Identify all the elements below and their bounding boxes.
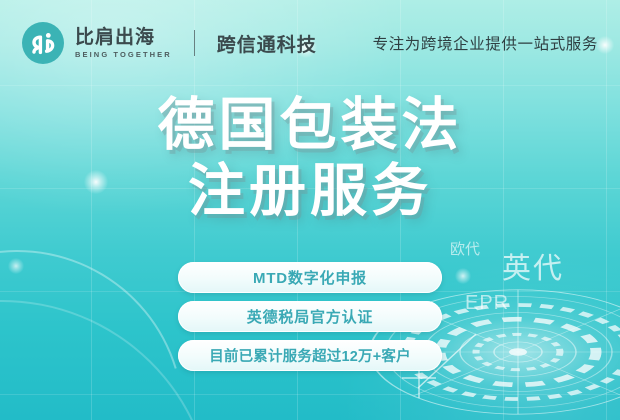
feature-pill-customer-count[interactable]: 目前已累计服务超过12万+客户 (178, 340, 442, 371)
feature-pill-label: MTD数字化申报 (253, 267, 367, 288)
feature-pill-certification[interactable]: 英德税局官方认证 (178, 301, 442, 332)
headline-block: 德国包装法 注册服务 (0, 92, 620, 224)
feature-pill-mtd[interactable]: MTD数字化申报 (178, 262, 442, 293)
headline-line-2: 注册服务 (0, 158, 620, 224)
feature-pill-list: MTD数字化申报 英德税局官方认证 目前已累计服务超过12万+客户 (0, 262, 620, 371)
feature-pill-label: 目前已累计服务超过12万+客户 (209, 345, 411, 366)
brand-company-name: 跨信通科技 (217, 30, 317, 57)
brand-name-en: BEING TOGETHER (75, 51, 172, 59)
brand-text-block: 比肩出海 BEING TOGETHER (75, 28, 172, 59)
brand-divider (194, 30, 195, 56)
promotional-banner: 比肩出海 BEING TOGETHER 跨信通科技 专注为跨境企业提供一站式服务… (0, 0, 620, 420)
brand-name-cn: 比肩出海 (75, 28, 172, 47)
brand-lockup: 比肩出海 BEING TOGETHER 跨信通科技 (22, 22, 317, 64)
feature-pill-label: 英德税局官方认证 (247, 306, 373, 327)
header-tagline: 专注为跨境企业提供一站式服务 (373, 32, 598, 54)
bijian-chuhai-circle-logo-icon (22, 22, 64, 64)
watermark-oudai: 欧代 (450, 238, 480, 259)
banner-header: 比肩出海 BEING TOGETHER 跨信通科技 专注为跨境企业提供一站式服务 (0, 0, 620, 86)
headline-line-1: 德国包装法 (0, 92, 620, 158)
